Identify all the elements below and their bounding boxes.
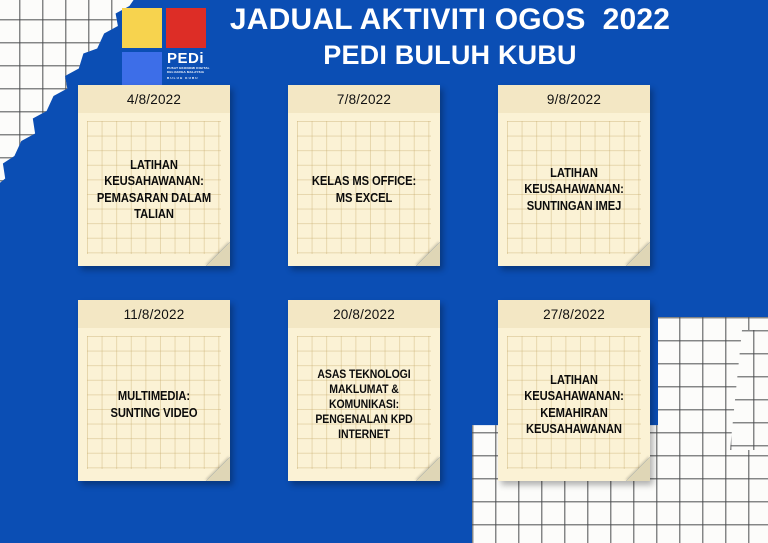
note-header-strip: 20/8/2022 [288, 300, 440, 328]
activity-note-card[interactable]: 11/8/2022MULTIMEDIA: SUNTING VIDEO [78, 300, 230, 481]
note-date: 27/8/2022 [543, 307, 605, 322]
note-folded-corner-icon [626, 242, 650, 266]
note-date: 7/8/2022 [337, 92, 391, 107]
poster-header: PEDi PUSAT EKONOMI DIGITAL KELUARGA MALA… [0, 0, 768, 82]
logo-square-yellow [122, 8, 162, 48]
note-date: 20/8/2022 [333, 307, 395, 322]
activity-note-card[interactable]: 27/8/2022LATIHAN KEUSAHAWANAN: KEMAHIRAN… [498, 300, 650, 481]
logo-subtitle-line3: BULUH KUBU [167, 76, 215, 80]
title-block: JADUAL AKTIVITI OGOS 2022 PEDI BULUH KUB… [190, 4, 710, 71]
note-folded-corner-icon [206, 242, 230, 266]
activity-note-card[interactable]: 9/8/2022LATIHAN KEUSAHAWANAN: SUNTINGAN … [498, 85, 650, 266]
activity-note-card[interactable]: 20/8/2022ASAS TEKNOLOGI MAKLUMAT & KOMUN… [288, 300, 440, 481]
page-subtitle: PEDI BULUH KUBU [190, 40, 710, 70]
note-folded-corner-icon [416, 457, 440, 481]
activity-note-card[interactable]: 7/8/2022KELAS MS OFFICE: MS EXCEL [288, 85, 440, 266]
note-header-strip: 9/8/2022 [498, 85, 650, 113]
note-date: 9/8/2022 [547, 92, 601, 107]
note-date: 4/8/2022 [127, 92, 181, 107]
activity-note-card[interactable]: 4/8/2022LATIHAN KEUSAHAWANAN: PEMASARAN … [78, 85, 230, 266]
note-folded-corner-icon [416, 242, 440, 266]
note-date: 11/8/2022 [124, 307, 185, 322]
note-header-strip: 27/8/2022 [498, 300, 650, 328]
poster-canvas: PEDi PUSAT EKONOMI DIGITAL KELUARGA MALA… [0, 0, 768, 543]
note-activity-text: LATIHAN KEUSAHAWANAN: PEMASARAN DALAM TA… [94, 157, 214, 221]
note-header-strip: 4/8/2022 [78, 85, 230, 113]
logo-subtitle-line2: KELUARGA MALAYSIA [167, 70, 215, 74]
note-header-strip: 7/8/2022 [288, 85, 440, 113]
note-folded-corner-icon [626, 457, 650, 481]
note-activity-text: ASAS TEKNOLOGI MAKLUMAT & KOMUNIKASI: PE… [304, 367, 424, 443]
schedule-notes-grid: 4/8/2022LATIHAN KEUSAHAWANAN: PEMASARAN … [78, 85, 690, 480]
note-activity-text: LATIHAN KEUSAHAWANAN: SUNTINGAN IMEJ [514, 165, 634, 213]
note-activity-text: MULTIMEDIA: SUNTING VIDEO [94, 388, 214, 420]
page-title: JADUAL AKTIVITI OGOS 2022 [190, 4, 710, 36]
note-activity-text: KELAS MS OFFICE: MS EXCEL [304, 173, 424, 205]
note-header-strip: 11/8/2022 [78, 300, 230, 328]
note-folded-corner-icon [206, 457, 230, 481]
note-activity-text: LATIHAN KEUSAHAWANAN: KEMAHIRAN KEUSAHAW… [514, 372, 634, 436]
